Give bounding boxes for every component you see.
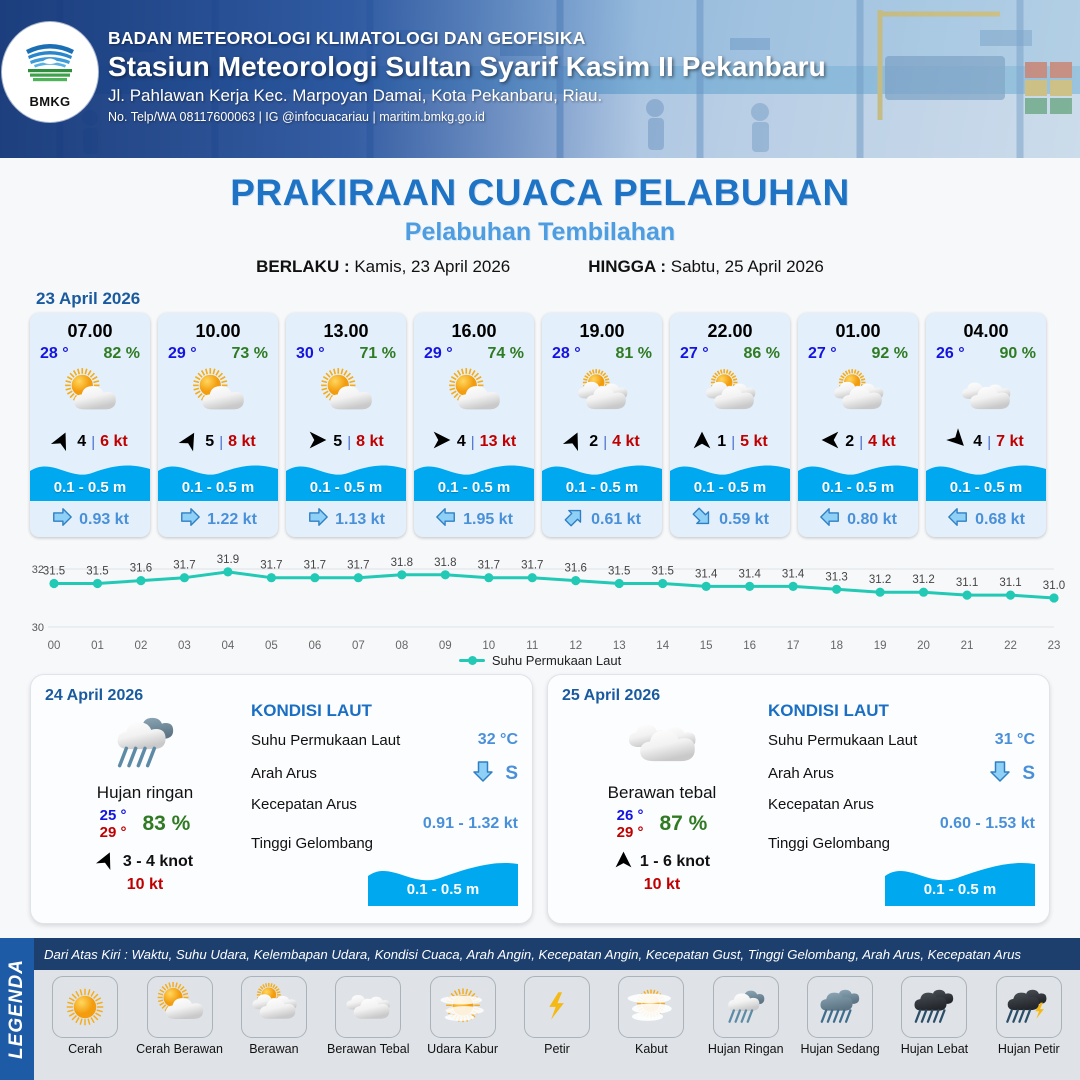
legenda-item-label: Hujan Sedang [793, 1042, 887, 1056]
svg-text:01: 01 [91, 640, 104, 652]
svg-text:15: 15 [700, 640, 713, 652]
weather-berawan-icon [798, 365, 918, 427]
berlaku-group: BERLAKU : Kamis, 23 April 2026 [256, 257, 510, 277]
wind-speed: 1 [717, 433, 726, 451]
current-direction-arrow-icon [563, 506, 585, 533]
wind-direction-arrow-icon [432, 430, 452, 455]
legenda-item: Hujan Sedang [793, 976, 887, 1056]
card-temperature: 26 ° [936, 345, 965, 363]
hourly-forecast-row: 07.00 28 ° 82 % 4 | 6 kt [0, 313, 1080, 537]
svg-text:31.9: 31.9 [217, 554, 239, 566]
svg-text:09: 09 [439, 640, 452, 652]
wind-separator: | [91, 434, 95, 451]
svg-text:17: 17 [787, 640, 800, 652]
card-wind-row: 1 | 5 kt [670, 427, 790, 457]
current-direction-row: Arah Arus S [768, 759, 1035, 788]
legenda-item-label: Udara Kabur [415, 1042, 509, 1056]
current-direction-group: S [471, 759, 518, 788]
svg-text:21: 21 [961, 640, 974, 652]
weather-hujan-ringan-icon [713, 976, 779, 1038]
card-temperature: 29 ° [168, 345, 197, 363]
current-speed-value: 0.91 - 1.32 kt [251, 815, 518, 833]
wind-direction-arrow-icon [564, 430, 584, 455]
wind-gust: 13 kt [480, 433, 516, 451]
svg-text:04: 04 [222, 640, 235, 652]
card-humidity: 81 % [616, 345, 652, 363]
legenda-item: Hujan Petir [982, 976, 1076, 1056]
card-temperature: 28 ° [40, 345, 69, 363]
svg-text:31.7: 31.7 [260, 560, 282, 572]
wind-direction-arrow-icon [948, 430, 968, 455]
legenda-item-label: Hujan Lebat [887, 1042, 981, 1056]
current-direction-value: S [1022, 763, 1035, 785]
current-direction-arrow-icon [947, 506, 969, 533]
forecast-card: 07.00 28 ° 82 % 4 | 6 kt [30, 313, 150, 537]
wind-direction-arrow-icon [692, 430, 712, 455]
daily-forecast-row: 24 April 2026 Hujan ringan 25 ° [0, 668, 1080, 924]
svg-text:31.5: 31.5 [652, 566, 674, 578]
card-time: 19.00 [542, 313, 662, 342]
weather-berawan-icon [241, 976, 307, 1038]
legenda-item: Berawan [227, 976, 321, 1056]
hingga-value: Sabtu, 25 April 2026 [671, 257, 824, 276]
legenda-note: Dari Atas Kiri : Waktu, Suhu Udara, Kele… [44, 947, 1021, 962]
card-current-row: 0.59 kt [670, 501, 790, 533]
card-temp-hum-row: 27 ° 92 % [798, 342, 918, 363]
svg-text:31.1: 31.1 [999, 577, 1021, 589]
card-current-row: 0.80 kt [798, 501, 918, 533]
card-temperature: 29 ° [424, 345, 453, 363]
current-direction-group: S [988, 759, 1035, 788]
wave-height-label: Tinggi Gelombang [251, 835, 518, 852]
day-condition: Hujan ringan [45, 783, 245, 803]
current-speed-block: Kecepatan Arus 0.91 - 1.32 kt [251, 796, 518, 833]
card-wave-block: 0.1 - 0.5 m [670, 457, 790, 501]
wind-gust: 5 kt [740, 433, 768, 451]
card-time: 01.00 [798, 313, 918, 342]
card-wave-block: 0.1 - 0.5 m [158, 457, 278, 501]
svg-text:30: 30 [32, 622, 44, 634]
sea-conditions-column: KONDISI LAUT Suhu Permukaan Laut 31 °C A… [762, 687, 1035, 913]
svg-text:31.4: 31.4 [738, 568, 761, 580]
card-current-row: 1.22 kt [158, 501, 278, 533]
card-current-row: 1.95 kt [414, 501, 534, 533]
svg-text:31.7: 31.7 [347, 560, 369, 572]
wave-height: 0.1 - 0.5 m [414, 479, 534, 496]
legenda-item-label: Hujan Petir [982, 1042, 1076, 1056]
card-humidity: 86 % [744, 345, 780, 363]
svg-text:31.1: 31.1 [956, 577, 978, 589]
forecast-card: 13.00 30 ° 71 % 5 | 8 kt [286, 313, 406, 537]
card-time: 22.00 [670, 313, 790, 342]
legenda-side-label: LEGENDA [6, 959, 28, 1059]
card-humidity: 74 % [488, 345, 524, 363]
card-humidity: 71 % [360, 345, 396, 363]
forecast-card: 10.00 29 ° 73 % 5 | 8 kt [158, 313, 278, 537]
day-wind-block: 3 - 4 knot 10 kt [45, 850, 245, 894]
card-time: 10.00 [158, 313, 278, 342]
validity-row: BERLAKU : Kamis, 23 April 2026 HINGGA : … [0, 257, 1080, 277]
weather-udara-kabur-icon [430, 976, 496, 1038]
weather-cerah-icon [52, 976, 118, 1038]
bmkg-logo-text: BMKG [17, 94, 83, 109]
card-time: 16.00 [414, 313, 534, 342]
weather-berawan-icon [670, 365, 790, 427]
weather-kabut-icon [618, 976, 684, 1038]
wind-separator: | [731, 434, 735, 451]
current-speed: 0.93 kt [79, 511, 129, 529]
wind-direction-arrow-icon [52, 430, 72, 455]
svg-text:19: 19 [874, 640, 887, 652]
day-humidity: 87 % [659, 812, 707, 836]
current-direction-arrow-icon [988, 759, 1012, 788]
infographic-page: BMKG BADAN METEOROLOGI KLIMATOLOGI DAN G… [0, 0, 1080, 1080]
day-left-column: 24 April 2026 Hujan ringan 25 ° [45, 687, 245, 913]
svg-text:31.2: 31.2 [869, 574, 891, 586]
wave-height: 0.1 - 0.5 m [286, 479, 406, 496]
card-temp-hum-row: 29 ° 74 % [414, 342, 534, 363]
svg-text:18: 18 [830, 640, 843, 652]
card-temp-hum-row: 29 ° 73 % [158, 342, 278, 363]
svg-text:05: 05 [265, 640, 278, 652]
card-temperature: 30 ° [296, 345, 325, 363]
wave-height-block: Tinggi Gelombang 0.1 - 0.5 m [768, 835, 1035, 906]
hingga-group: HINGGA : Sabtu, 25 April 2026 [588, 257, 824, 277]
svg-text:31.3: 31.3 [825, 571, 847, 583]
sst-value: 31 °C [995, 731, 1035, 749]
legenda-item-label: Cerah Berawan [132, 1042, 226, 1056]
sst-label: Suhu Permukaan Laut [768, 732, 917, 749]
svg-text:31.7: 31.7 [304, 560, 326, 572]
card-current-row: 0.68 kt [926, 501, 1046, 533]
day-forecast-panel: 24 April 2026 Hujan ringan 25 ° [30, 674, 533, 924]
legenda-item: Cerah Berawan [132, 976, 226, 1056]
berlaku-label: BERLAKU : [256, 257, 350, 276]
legenda-item: Berawan Tebal [321, 976, 415, 1056]
svg-text:06: 06 [308, 640, 321, 652]
svg-text:31.2: 31.2 [912, 574, 934, 586]
weather-cerah-berawan-icon [414, 365, 534, 427]
card-wind-row: 4 | 6 kt [30, 427, 150, 457]
current-speed: 0.80 kt [847, 511, 897, 529]
svg-text:11: 11 [526, 640, 538, 652]
weather-petir-icon [524, 976, 590, 1038]
sst-row: Suhu Permukaan Laut 32 °C [251, 731, 518, 749]
card-humidity: 90 % [1000, 345, 1036, 363]
card-wave-block: 0.1 - 0.5 m [30, 457, 150, 501]
forecast-card: 22.00 27 ° 86 % 1 [670, 313, 790, 537]
legenda-item-label: Berawan Tebal [321, 1042, 415, 1056]
legenda-note-bar: Dari Atas Kiri : Waktu, Suhu Udara, Kele… [34, 938, 1080, 970]
card-wind-row: 5 | 8 kt [286, 427, 406, 457]
agency-name: BADAN METEOROLOGI KLIMATOLOGI DAN GEOFIS… [108, 28, 826, 49]
legenda-section: LEGENDA Dari Atas Kiri : Waktu, Suhu Uda… [0, 938, 1080, 1080]
legenda-icon-list: Cerah Cerah Berawan [34, 970, 1080, 1080]
card-wave-block: 0.1 - 0.5 m [798, 457, 918, 501]
svg-text:10: 10 [482, 640, 495, 652]
card-wind-row: 5 | 8 kt [158, 427, 278, 457]
card-temp-hum-row: 28 ° 81 % [542, 342, 662, 363]
forecast-card: 04.00 26 ° 90 % 4 [926, 313, 1046, 537]
card-wave-block: 0.1 - 0.5 m [286, 457, 406, 501]
legenda-item: Petir [510, 976, 604, 1056]
legenda-item: Cerah [38, 976, 132, 1056]
legenda-item-label: Hujan Ringan [699, 1042, 793, 1056]
sst-label: Suhu Permukaan Laut [251, 732, 400, 749]
weather-hujan-ringan-icon [45, 707, 245, 779]
svg-text:31.0: 31.0 [1043, 580, 1065, 592]
svg-text:31.5: 31.5 [43, 566, 65, 578]
wave-height: 0.1 - 0.5 m [670, 479, 790, 496]
card-current-row: 1.13 kt [286, 501, 406, 533]
svg-text:08: 08 [395, 640, 408, 652]
weather-berawan-icon [542, 365, 662, 427]
card-time: 07.00 [30, 313, 150, 342]
forecast-card: 01.00 27 ° 92 % 2 [798, 313, 918, 537]
svg-text:31.6: 31.6 [130, 563, 152, 575]
berlaku-value: Kamis, 23 April 2026 [354, 257, 510, 276]
current-direction-arrow-icon [819, 506, 841, 533]
wind-speed: 2 [589, 433, 598, 451]
legenda-item-label: Petir [510, 1042, 604, 1056]
wave-height: 0.1 - 0.5 m [542, 479, 662, 496]
wind-separator: | [471, 434, 475, 451]
card-humidity: 82 % [104, 345, 140, 363]
wave-height-value: 0.1 - 0.5 m [368, 881, 518, 898]
card-humidity: 92 % [872, 345, 908, 363]
forecast-card: 16.00 29 ° 74 % 4 | 13 kt [414, 313, 534, 537]
weather-hujan-lebat-icon [901, 976, 967, 1038]
day-temp-max: 29 ° [100, 824, 127, 841]
wind-separator: | [859, 434, 863, 451]
card-temp-hum-row: 28 ° 82 % [30, 342, 150, 363]
wave-height-value: 0.1 - 0.5 m [885, 881, 1035, 898]
wave-height: 0.1 - 0.5 m [798, 479, 918, 496]
legenda-item: Kabut [604, 976, 698, 1056]
day-wind-block: 1 - 6 knot 10 kt [562, 850, 762, 894]
card-temp-hum-row: 27 ° 86 % [670, 342, 790, 363]
legenda-item-label: Kabut [604, 1042, 698, 1056]
weather-hujan-sedang-icon [807, 976, 873, 1038]
card-wind-row: 2 | 4 kt [798, 427, 918, 457]
day-temp-min: 25 ° [100, 807, 127, 824]
current-direction-arrow-icon [307, 506, 329, 533]
legenda-item: Udara Kabur [415, 976, 509, 1056]
card-wave-block: 0.1 - 0.5 m [414, 457, 534, 501]
card-current-row: 0.61 kt [542, 501, 662, 533]
card-temp-hum-row: 30 ° 71 % [286, 342, 406, 363]
current-speed-label: Kecepatan Arus [251, 796, 518, 813]
sea-conditions-column: KONDISI LAUT Suhu Permukaan Laut 32 °C A… [245, 687, 518, 913]
svg-text:03: 03 [178, 640, 191, 652]
current-direction-row: Arah Arus S [251, 759, 518, 788]
svg-text:14: 14 [656, 640, 669, 652]
day-wind-row: 3 - 4 knot [45, 850, 245, 874]
legenda-item-label: Berawan [227, 1042, 321, 1056]
sea-conditions-title: KONDISI LAUT [768, 701, 1035, 721]
wind-gust: 8 kt [228, 433, 256, 451]
current-direction-value: S [505, 763, 518, 785]
legenda-side-bar: LEGENDA [0, 938, 34, 1080]
svg-text:31.5: 31.5 [608, 566, 630, 578]
current-direction-label: Arah Arus [251, 765, 317, 782]
page-title: PRAKIRAAN CUACA PELABUHAN [0, 172, 1080, 214]
day-condition: Berawan tebal [562, 783, 762, 803]
sst-value: 32 °C [478, 731, 518, 749]
wind-direction-arrow-icon [308, 430, 328, 455]
wind-speed: 2 [845, 433, 854, 451]
card-wind-row: 2 | 4 kt [542, 427, 662, 457]
svg-text:22: 22 [1004, 640, 1017, 652]
current-direction-arrow-icon [51, 506, 73, 533]
header-text-block: BADAN METEOROLOGI KLIMATOLOGI DAN GEOFIS… [108, 28, 826, 124]
wind-speed: 5 [333, 433, 342, 451]
card-wind-row: 4 | 13 kt [414, 427, 534, 457]
card-temperature: 27 ° [808, 345, 837, 363]
current-speed: 1.13 kt [335, 511, 385, 529]
svg-text:07: 07 [352, 640, 365, 652]
wind-speed: 4 [77, 433, 86, 451]
day-wind-gust: 10 kt [45, 876, 245, 894]
wind-direction-arrow-icon [180, 430, 200, 455]
sea-conditions-title: KONDISI LAUT [251, 701, 518, 721]
wind-separator: | [219, 434, 223, 451]
card-wave-block: 0.1 - 0.5 m [542, 457, 662, 501]
card-wave-block: 0.1 - 0.5 m [926, 457, 1046, 501]
bmkg-logo: BMKG [2, 22, 98, 122]
weather-cerah-berawan-icon [158, 365, 278, 427]
card-temperature: 27 ° [680, 345, 709, 363]
current-speed: 0.59 kt [719, 511, 769, 529]
weather-hujan-petir-icon [996, 976, 1062, 1038]
wind-gust: 6 kt [100, 433, 128, 451]
wind-speed: 4 [973, 433, 982, 451]
current-speed-block: Kecepatan Arus 0.60 - 1.53 kt [768, 796, 1035, 833]
wind-gust: 4 kt [868, 433, 896, 451]
wind-separator: | [603, 434, 607, 451]
card-wind-row: 4 | 7 kt [926, 427, 1046, 457]
svg-text:23: 23 [1048, 640, 1061, 652]
bmkg-emblem-icon [20, 36, 80, 88]
weather-berawan-tebal-icon [926, 365, 1046, 427]
svg-text:12: 12 [569, 640, 582, 652]
current-speed: 1.95 kt [463, 511, 513, 529]
card-current-row: 0.93 kt [30, 501, 150, 533]
hingga-label: HINGGA : [588, 257, 666, 276]
svg-text:31.7: 31.7 [478, 560, 500, 572]
wind-gust: 4 kt [612, 433, 640, 451]
day-humidity: 83 % [142, 812, 190, 836]
current-speed-label: Kecepatan Arus [768, 796, 1035, 813]
day-temp-hum-row: 25 ° 29 ° 83 % [45, 807, 245, 842]
wind-separator: | [987, 434, 991, 451]
sst-row: Suhu Permukaan Laut 31 °C [768, 731, 1035, 749]
current-speed-value: 0.60 - 1.53 kt [768, 815, 1035, 833]
svg-text:31.7: 31.7 [521, 560, 543, 572]
wind-direction-arrow-icon [97, 850, 116, 874]
day-temp-min: 26 ° [617, 807, 644, 824]
current-direction-arrow-icon [471, 759, 495, 788]
wind-speed: 4 [457, 433, 466, 451]
current-direction-arrow-icon [179, 506, 201, 533]
wave-height-block: Tinggi Gelombang 0.1 - 0.5 m [251, 835, 518, 906]
wind-direction-arrow-icon [614, 850, 633, 874]
day-wind-range: 1 - 6 knot [640, 853, 710, 871]
day-wind-gust: 10 kt [562, 876, 762, 894]
forecast-date-label: 23 April 2026 [36, 289, 1080, 309]
wind-direction-arrow-icon [820, 430, 840, 455]
weather-berawan-tebal-icon [562, 707, 762, 779]
forecast-card: 19.00 28 ° 81 % 2 [542, 313, 662, 537]
day-temp-col: 26 ° 29 ° [617, 807, 644, 842]
station-name: Stasiun Meteorologi Sultan Syarif Kasim … [108, 51, 826, 83]
weather-cerah-berawan-icon [30, 365, 150, 427]
card-time: 04.00 [926, 313, 1046, 342]
wave-height: 0.1 - 0.5 m [926, 479, 1046, 496]
svg-text:31.4: 31.4 [782, 568, 805, 580]
weather-cerah-berawan-icon [286, 365, 406, 427]
page-subtitle: Pelabuhan Tembilahan [0, 218, 1080, 247]
legenda-item: Hujan Ringan [699, 976, 793, 1056]
svg-text:00: 00 [48, 640, 61, 652]
current-direction-arrow-icon [691, 506, 713, 533]
legenda-item-label: Cerah [38, 1042, 132, 1056]
day-temp-col: 25 ° 29 ° [100, 807, 127, 842]
current-direction-label: Arah Arus [768, 765, 834, 782]
weather-cerah-berawan-icon [147, 976, 213, 1038]
day-left-column: 25 April 2026 Berawan tebal [562, 687, 762, 913]
header-banner: BMKG BADAN METEOROLOGI KLIMATOLOGI DAN G… [0, 0, 1080, 158]
card-time: 13.00 [286, 313, 406, 342]
card-humidity: 73 % [232, 345, 268, 363]
current-speed: 1.22 kt [207, 511, 257, 529]
legenda-item: Hujan Lebat [887, 976, 981, 1056]
wind-gust: 7 kt [996, 433, 1024, 451]
wind-speed: 5 [205, 433, 214, 451]
wind-separator: | [347, 434, 351, 451]
day-temp-hum-row: 26 ° 29 ° 87 % [562, 807, 762, 842]
svg-text:31.4: 31.4 [695, 568, 718, 580]
svg-text:31.8: 31.8 [434, 557, 456, 569]
current-speed: 0.68 kt [975, 511, 1025, 529]
svg-text:31.5: 31.5 [86, 566, 108, 578]
station-contact: No. Telp/WA 08117600063 | IG @infocuacar… [108, 110, 826, 124]
svg-text:31.8: 31.8 [391, 557, 413, 569]
day-wind-range: 3 - 4 knot [123, 853, 193, 871]
svg-text:13: 13 [613, 640, 626, 652]
svg-text:20: 20 [917, 640, 930, 652]
sst-chart: 303231.50031.50131.60231.70331.90431.705… [14, 545, 1066, 657]
wave-height: 0.1 - 0.5 m [158, 479, 278, 496]
wave-height: 0.1 - 0.5 m [30, 479, 150, 496]
card-temp-hum-row: 26 ° 90 % [926, 342, 1046, 363]
day-wind-row: 1 - 6 knot [562, 850, 762, 874]
current-direction-arrow-icon [435, 506, 457, 533]
wave-graphic: 0.1 - 0.5 m [768, 854, 1035, 906]
legend-marker-icon [459, 659, 485, 662]
current-speed: 0.61 kt [591, 511, 641, 529]
wave-graphic: 0.1 - 0.5 m [251, 854, 518, 906]
svg-text:02: 02 [135, 640, 148, 652]
svg-text:31.6: 31.6 [565, 563, 587, 575]
sst-chart-svg: 303231.50031.50131.60231.70331.90431.705… [14, 545, 1066, 657]
wind-gust: 8 kt [356, 433, 384, 451]
day-forecast-panel: 25 April 2026 Berawan tebal [547, 674, 1050, 924]
weather-berawan-tebal-icon [335, 976, 401, 1038]
svg-text:16: 16 [743, 640, 756, 652]
card-temperature: 28 ° [552, 345, 581, 363]
station-address: Jl. Pahlawan Kerja Kec. Marpoyan Damai, … [108, 86, 826, 106]
